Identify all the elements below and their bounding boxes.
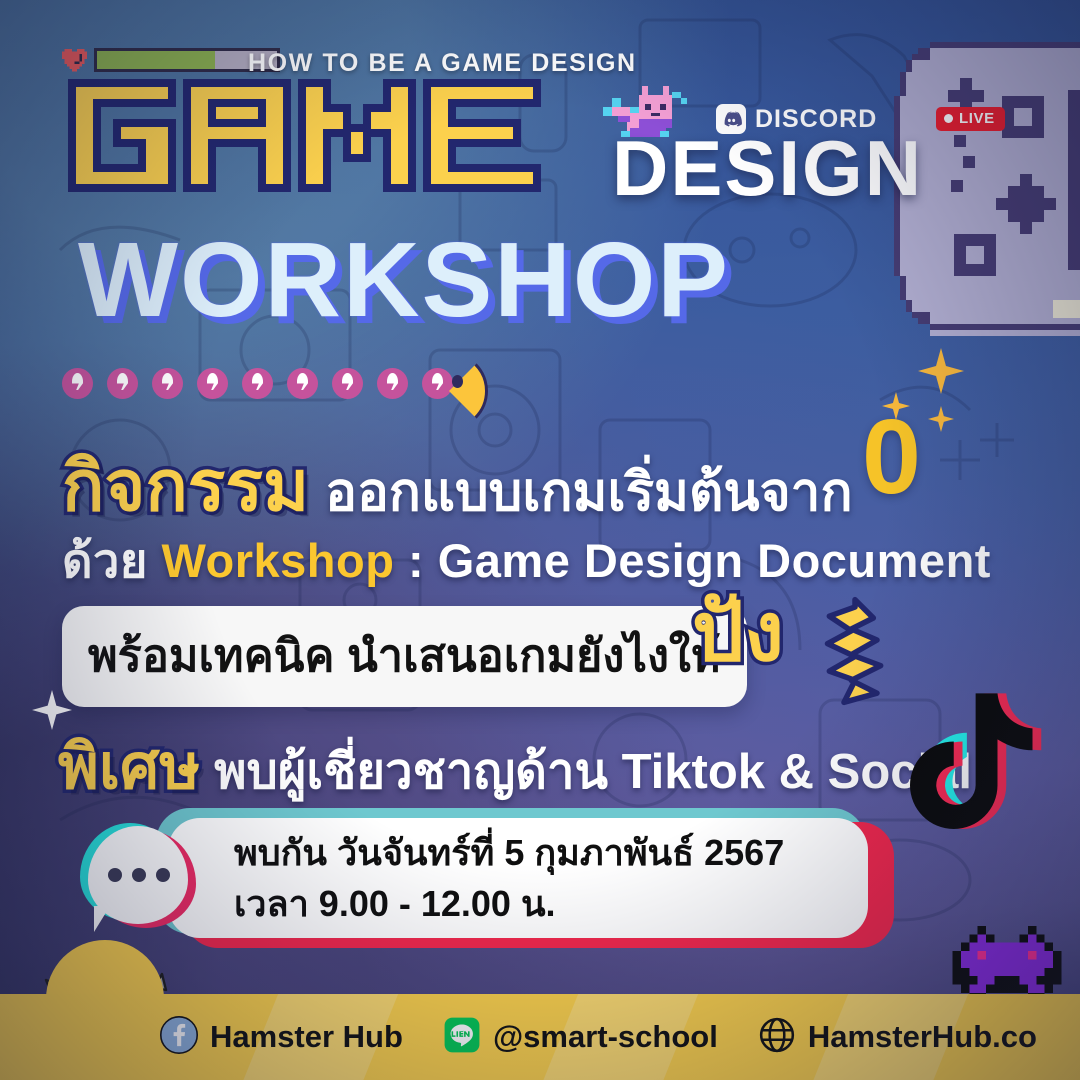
tiktok-logo: [910, 684, 1050, 834]
kicker-text: HOW TO BE A GAME DESIGN: [248, 49, 637, 78]
title-design: DESIGN: [612, 133, 923, 205]
footer-item-facebook[interactable]: Hamster Hub: [160, 1016, 403, 1059]
headline-line2-prefix: ด้วย: [62, 534, 162, 587]
headline-rest-3: พบผู้เชี่ยวชาญด้าน Tiktok & Social: [214, 732, 972, 810]
live-dot-icon: [944, 114, 953, 123]
headline-line-2: ด้วย Workshop : Game Design Document: [62, 523, 991, 598]
pac-dot: [242, 368, 273, 399]
sparkle-icon: [882, 392, 910, 420]
date-card-body: พบกัน วันจันทร์ที่ 5 กุมภาพันธ์ 2567 เวล…: [168, 818, 868, 938]
zap-burst-icon: [800, 596, 910, 706]
footer-item-website[interactable]: HamsterHub.co: [758, 1016, 1037, 1059]
pac-dot: [422, 368, 453, 399]
title-workshop: WORKSHOP: [78, 232, 730, 330]
pac-dot-row: [62, 368, 453, 399]
discord-badge[interactable]: DISCORD: [716, 104, 877, 134]
pacman-eye-icon: [452, 375, 463, 388]
discord-icon: [716, 104, 746, 134]
bubble-dots: [108, 868, 170, 882]
speech-bubble-icon: [86, 826, 194, 934]
footer-label-website: HamsterHub.co: [808, 1019, 1037, 1055]
globe-icon: [758, 1016, 796, 1059]
heart-icon: [62, 46, 92, 74]
footer-item-line[interactable]: @smart-school: [443, 1016, 718, 1059]
pac-dot: [107, 368, 138, 399]
live-badge[interactable]: LIVE: [936, 107, 1005, 131]
pang-accent: ปัง: [692, 592, 784, 674]
live-label: LIVE: [959, 110, 995, 127]
poster-canvas: GAME: [0, 0, 1080, 1080]
sparkle-icon: [928, 406, 954, 432]
headline-highlight-3: พิเศษ: [58, 718, 200, 816]
discord-label: DISCORD: [755, 105, 877, 134]
headline-rest-1: ออกแบบเกมเริ่มต้นจาก: [325, 450, 852, 534]
footer-label-facebook: Hamster Hub: [210, 1019, 403, 1055]
line-icon: [443, 1016, 481, 1059]
headline-line2-yellow: Workshop: [162, 534, 395, 587]
footer-bar: Hamster Hub @smart-school HamsterHub.co: [0, 994, 1080, 1080]
sparkle-icon: [918, 348, 964, 394]
date-line-1: พบกัน วันจันทร์ที่ 5 กุมภาพันธ์ 2567: [234, 827, 868, 878]
footer-label-line: @smart-school: [493, 1019, 718, 1055]
headline-line2-rest: : Game Design Document: [394, 534, 991, 587]
technique-pill: พร้อมเทคนิค นำเสนอเกมยังไงให้: [62, 606, 747, 707]
date-card: พบกัน วันจันทร์ที่ 5 กุมภาพันธ์ 2567 เวล…: [150, 808, 870, 948]
pac-dot: [197, 368, 228, 399]
page-title: [62, 78, 562, 198]
pac-dot: [62, 368, 93, 399]
pac-dot: [377, 368, 408, 399]
footer-links: Hamster Hub @smart-school HamsterHub.co: [160, 994, 1037, 1080]
game-pixel-title: [62, 78, 562, 198]
facebook-icon: [160, 1016, 198, 1059]
headline-line-3: พิเศษ พบผู้เชี่ยวชาญด้าน Tiktok & Social: [58, 718, 972, 816]
date-line-2: เวลา 9.00 - 12.00 น.: [234, 878, 868, 929]
bubble-tail: [94, 906, 110, 932]
pac-dot: [152, 368, 183, 399]
health-bar-fill: [94, 48, 215, 72]
pac-dot: [332, 368, 363, 399]
pac-dot: [287, 368, 318, 399]
